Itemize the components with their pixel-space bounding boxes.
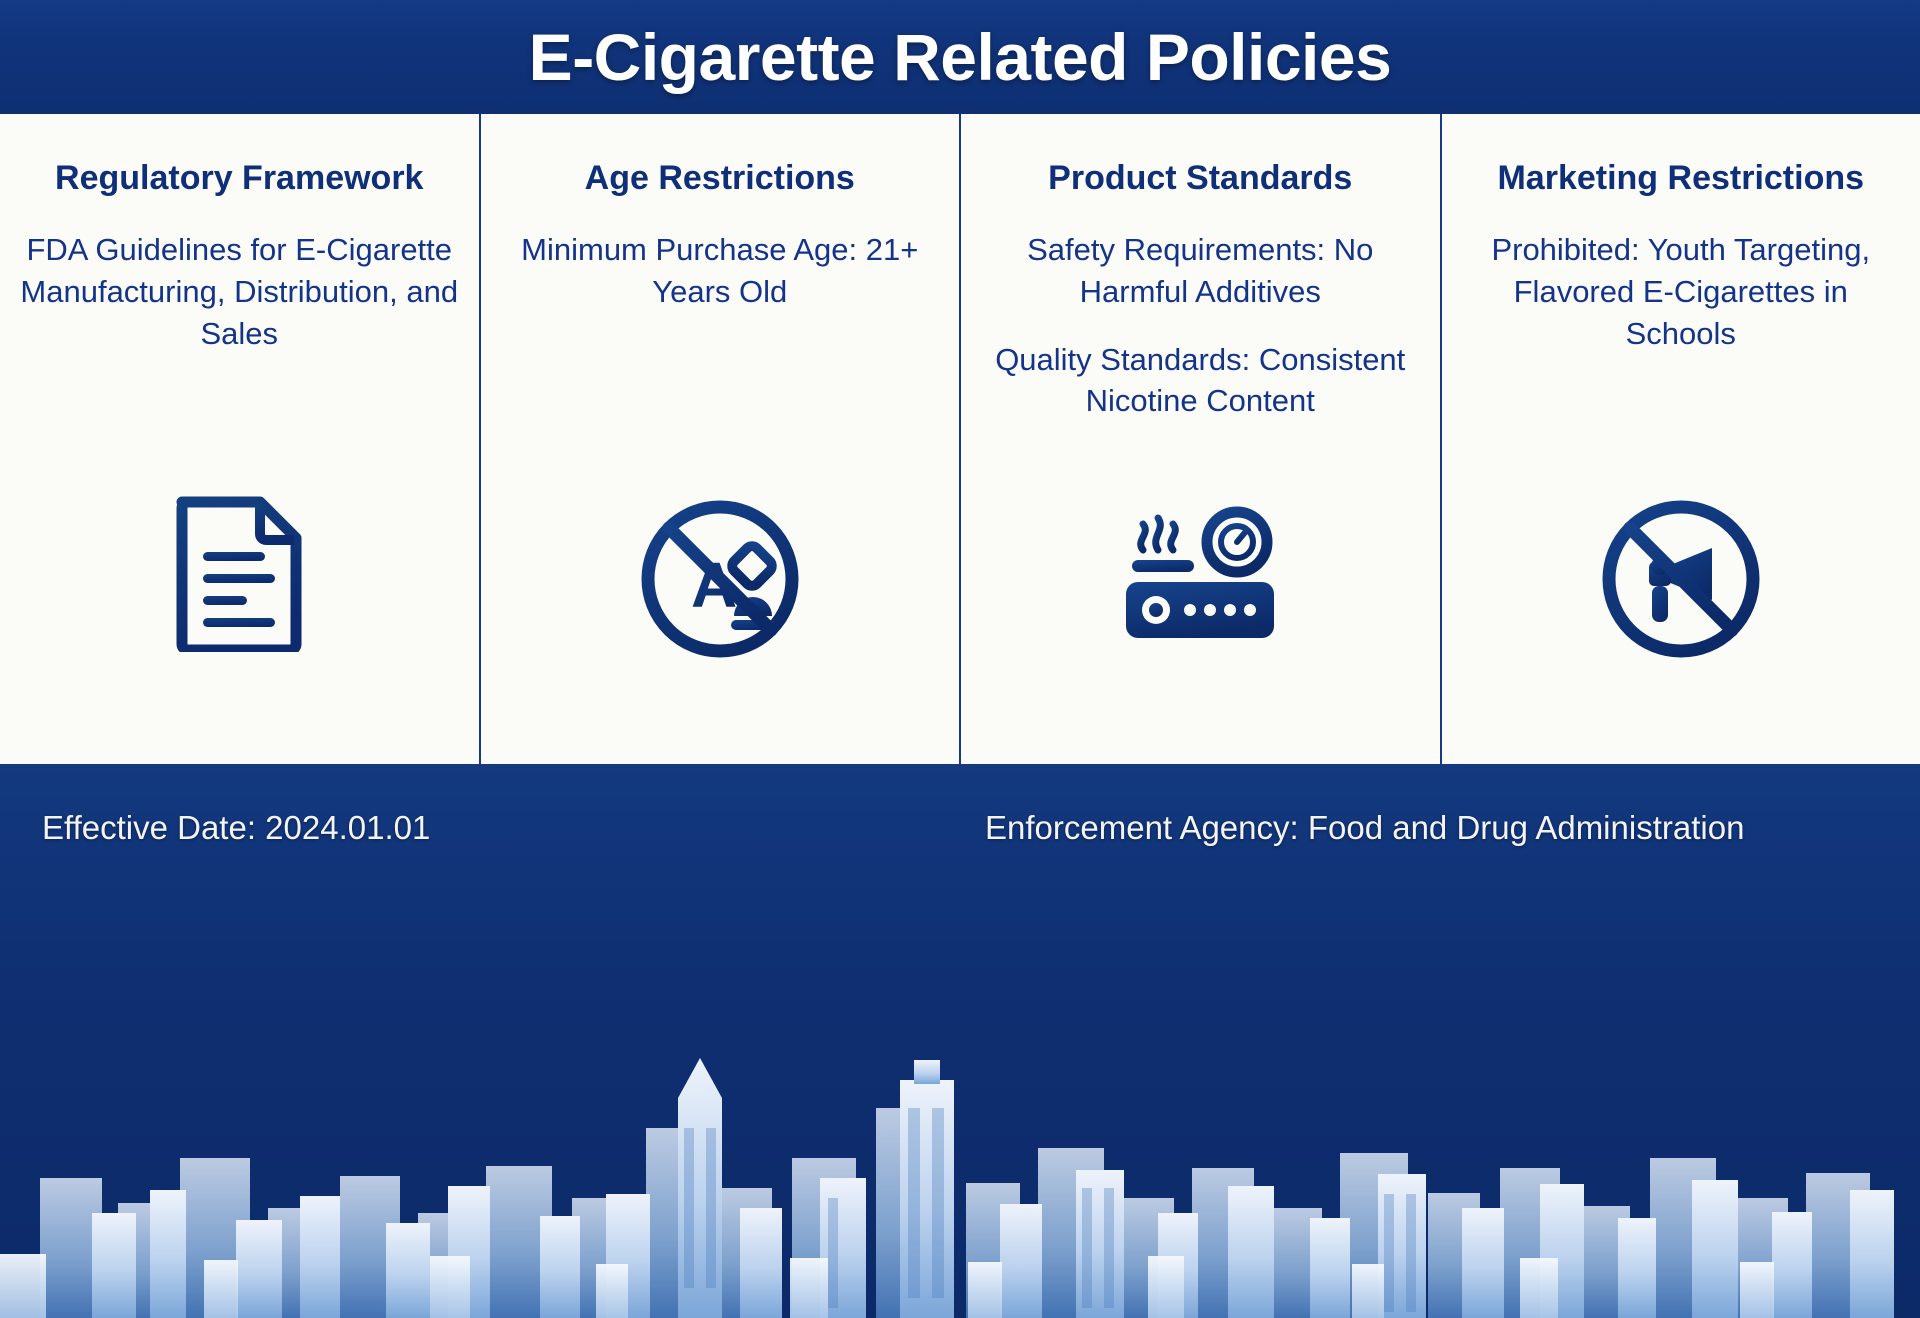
column-body: Safety Requirements: No Harmful Additive… (979, 229, 1422, 421)
page-title: E-Cigarette Related Policies (529, 19, 1392, 95)
column-body: Prohibited: Youth Targeting, Flavored E-… (1460, 229, 1903, 354)
effective-date-label: Effective Date: 2024.01.01 (42, 809, 430, 847)
footer-band: Effective Date: 2024.01.01 Enforcement A… (0, 764, 1920, 1318)
policy-column-product-standards: Product Standards Safety Requirements: N… (959, 114, 1440, 764)
column-paragraph: Minimum Purchase Age: 21+ Years Old (499, 229, 942, 312)
column-title: Regulatory Framework (55, 158, 423, 199)
no-age-sale-icon: A (481, 494, 960, 664)
policy-column-marketing-restrictions: Marketing Restrictions Prohibited: Youth… (1440, 114, 1920, 764)
column-paragraph: Safety Requirements: No Harmful Additive… (979, 229, 1422, 312)
column-paragraph: Prohibited: Youth Targeting, Flavored E-… (1460, 229, 1903, 354)
document-icon (0, 494, 479, 652)
city-skyline-illustration (0, 1008, 1920, 1318)
policy-column-regulatory-framework: Regulatory Framework FDA Guidelines for … (0, 114, 479, 764)
column-body: FDA Guidelines for E-Cigarette Manufactu… (18, 229, 461, 354)
column-body: Minimum Purchase Age: 21+ Years Old (499, 229, 942, 312)
column-title: Product Standards (1048, 158, 1352, 199)
infographic-poster: E-Cigarette Related Policies Regulatory … (0, 0, 1920, 1318)
enforcement-agency-label: Enforcement Agency: Food and Drug Admini… (985, 809, 1744, 847)
header-banner: E-Cigarette Related Policies (0, 0, 1920, 114)
column-paragraph: Quality Standards: Consistent Nicotine C… (979, 339, 1422, 422)
footer-text-row: Effective Date: 2024.01.01 Enforcement A… (0, 798, 1920, 858)
column-title: Marketing Restrictions (1497, 158, 1864, 199)
policy-columns: Regulatory Framework FDA Guidelines for … (0, 114, 1920, 764)
column-title: Age Restrictions (585, 158, 855, 199)
no-marketing-megaphone-icon (1442, 494, 1920, 664)
policy-column-age-restrictions: Age Restrictions Minimum Purchase Age: 2… (479, 114, 960, 764)
nicotine-gauge-icon (961, 494, 1440, 664)
column-paragraph: FDA Guidelines for E-Cigarette Manufactu… (18, 229, 461, 354)
